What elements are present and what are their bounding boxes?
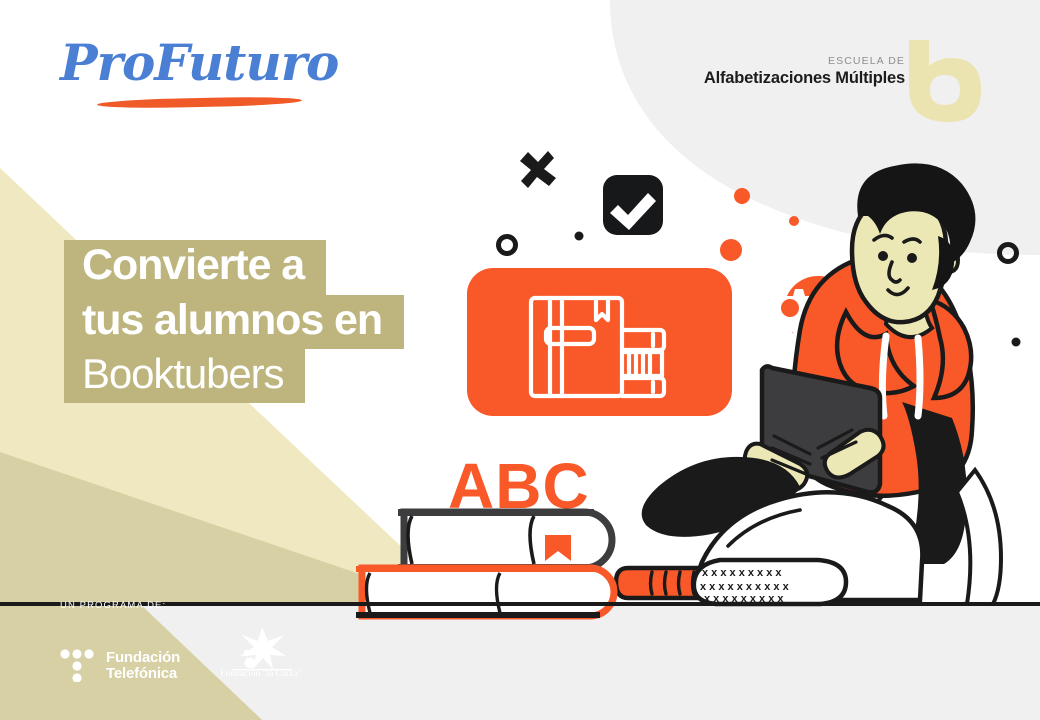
slide-canvas: ABC bbox=[0, 0, 1040, 720]
profuturo-underline-swoosh bbox=[97, 96, 302, 109]
profuturo-wordmark: ProFuturo bbox=[60, 38, 360, 88]
dot-icon bbox=[575, 232, 584, 241]
telefonica-dots-icon bbox=[60, 649, 96, 682]
eye-left bbox=[878, 251, 888, 261]
escuela-logo-text: ESCUELA DE Alfabetizaciones Múltiples bbox=[704, 56, 905, 86]
escuela-name: Alfabetizaciones Múltiples bbox=[704, 70, 905, 87]
sponsor-fundacion-telefonica[interactable]: Fundación Telefónica bbox=[60, 649, 180, 682]
svg-text:x x x x x x x x x: x x x x x x x x x bbox=[702, 567, 782, 579]
caixa-star-icon: Fundación "la Caixa" bbox=[214, 625, 309, 677]
profuturo-logo[interactable]: ProFuturo bbox=[60, 38, 360, 118]
eye-right bbox=[907, 253, 917, 263]
orange-dot-icon bbox=[734, 188, 750, 204]
sponsor-fundacion-la-caixa[interactable]: Fundación "la Caixa" bbox=[214, 625, 309, 682]
sponsor-list: Fundación Telefónica Fundación "la Caixa… bbox=[60, 625, 309, 682]
headline-row-1: Convierte a bbox=[64, 240, 484, 295]
check-badge-icon bbox=[603, 175, 663, 235]
headline-row-3: Booktubers bbox=[64, 349, 484, 403]
orange-dot-icon bbox=[720, 239, 742, 261]
shoe-patterned: x x x x x x x x x x x x x x x x x x x x … bbox=[694, 560, 846, 605]
headline-line-1: Convierte a bbox=[64, 240, 326, 295]
headline-line-2: tus alumnos en bbox=[64, 295, 404, 350]
telefonica-line-1: Fundación bbox=[106, 650, 180, 666]
orange-dot-icon bbox=[789, 216, 799, 226]
telefonica-line-2: Telefónica bbox=[106, 666, 180, 682]
footer-sponsors: UN PROGRAMA DE: Fundación Telefónica bbox=[60, 600, 309, 682]
x-sparkle-icon bbox=[520, 151, 556, 188]
program-label: UN PROGRAMA DE: bbox=[60, 600, 309, 611]
headline-row-2: tus alumnos en bbox=[64, 295, 484, 350]
svg-text:x x x x x x x x x x: x x x x x x x x x x bbox=[700, 581, 790, 593]
headline-line-3: Booktubers bbox=[64, 349, 305, 403]
b-letter-mark-icon bbox=[903, 38, 985, 124]
ring-outline-icon bbox=[1000, 245, 1017, 262]
page-title: Convierte a tus alumnos en Booktubers bbox=[64, 240, 484, 403]
ring-outline-icon bbox=[499, 237, 516, 254]
escuela-eyebrow: ESCUELA DE bbox=[704, 56, 905, 67]
caixa-caption: Fundación "la Caixa" bbox=[220, 669, 302, 677]
book-card-icon bbox=[467, 268, 732, 416]
book-stack bbox=[356, 509, 614, 618]
dot-icon bbox=[1012, 338, 1021, 347]
telefonica-wordmark: Fundación Telefónica bbox=[106, 650, 180, 681]
